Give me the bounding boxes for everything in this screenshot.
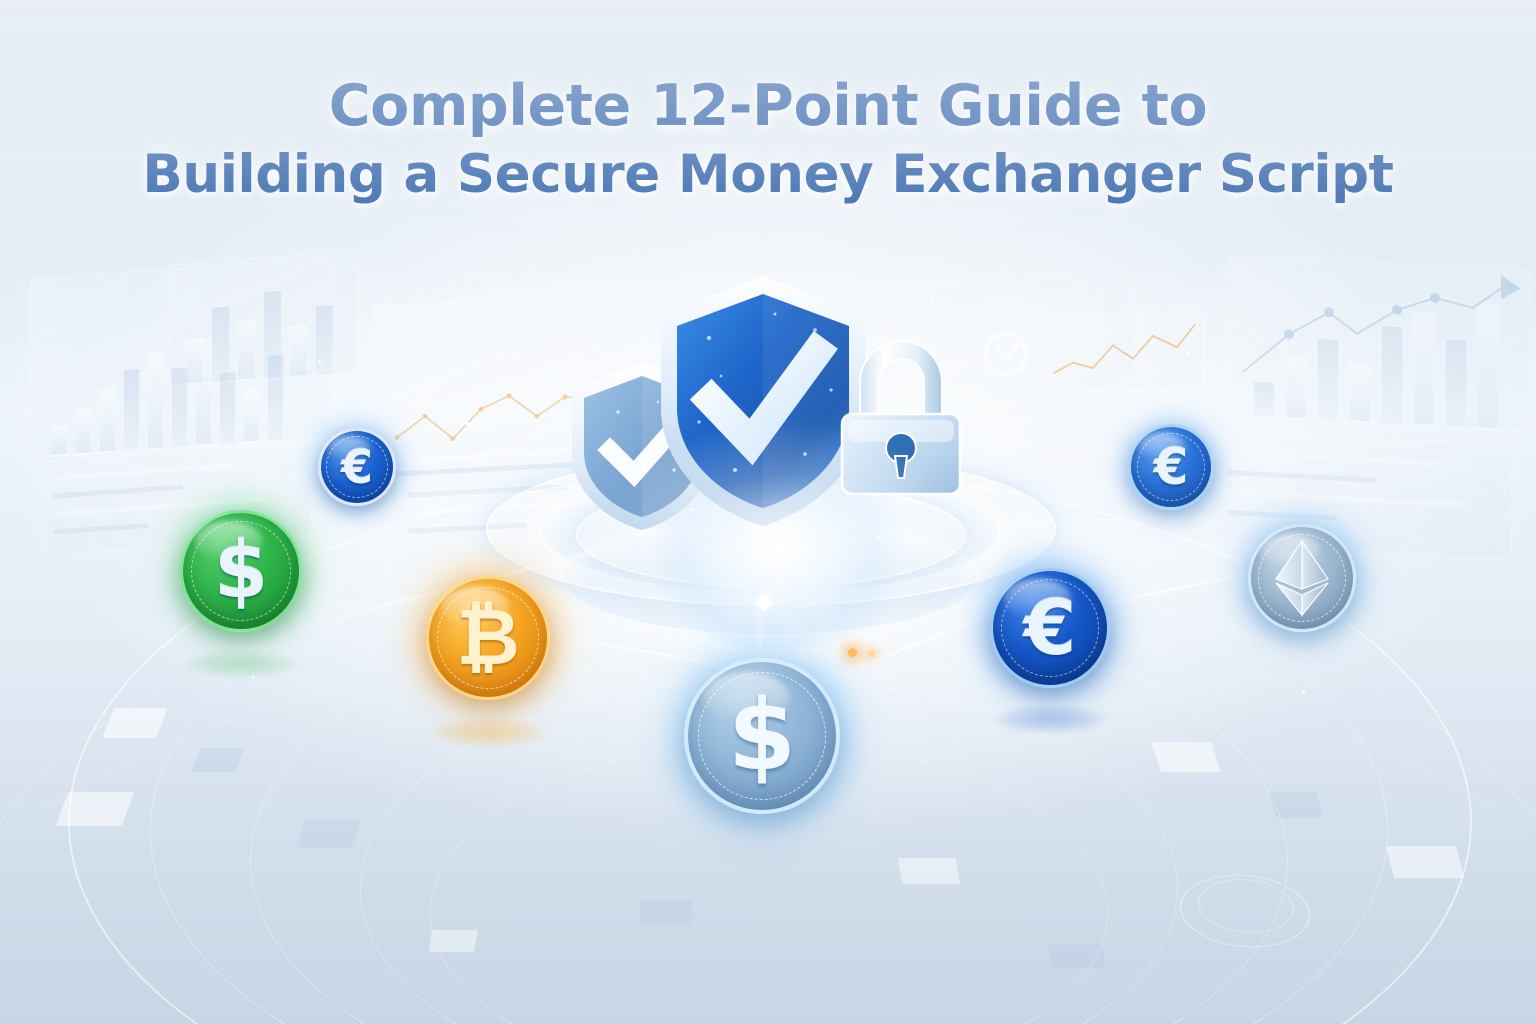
title-line-1: Complete 12-Point Guide to: [329, 73, 1207, 139]
page-title: Complete 12-Point Guide to Building a Se…: [0, 74, 1536, 205]
trend-arrow: [1229, 255, 1529, 431]
coin-symbol: ₿: [456, 599, 520, 677]
coin-euro-top-left[interactable]: €: [318, 428, 396, 506]
coin-euro-blue-large[interactable]: €: [990, 568, 1110, 688]
coin-symbol: €: [1154, 442, 1189, 492]
coin-euro-blue-large-reflection: [998, 706, 1102, 732]
title-line-2: Building a Secure Money Exchanger Script: [0, 145, 1536, 205]
sparkle: [878, 536, 881, 539]
coin-bitcoin-reflection: [434, 719, 542, 746]
sparkle: [466, 422, 469, 425]
coin-dollar-green-reflection: [188, 651, 294, 676]
coin-symbol: $: [728, 687, 796, 785]
sparkle-orange: [868, 650, 875, 657]
sparkle: [318, 360, 321, 363]
coin-dollar-center[interactable]: $: [684, 658, 840, 814]
bar-chart-panel-left-2: [168, 251, 358, 386]
sparkle-orange: [848, 648, 857, 657]
coin-symbol: €: [341, 444, 373, 490]
coin-bitcoin[interactable]: ₿: [426, 576, 550, 700]
bar-chart-panel-right: [1228, 254, 1530, 432]
coin-ethereum[interactable]: [1248, 524, 1356, 632]
coin-symbol: €: [1024, 590, 1077, 666]
sparkle: [252, 676, 255, 679]
ethereum-diamond-icon: [1272, 539, 1332, 617]
sparkle: [1302, 690, 1305, 693]
data-table-panel: [1210, 432, 1512, 560]
sparkle: [612, 330, 615, 333]
sparkle: [1060, 468, 1063, 471]
coin-dollar-green[interactable]: $: [180, 510, 302, 632]
hero-banner: Complete 12-Point Guide to Building a Se…: [0, 0, 1536, 1024]
sparkle: [930, 296, 933, 299]
sparkle: [1186, 352, 1189, 355]
padlock: [836, 332, 966, 500]
coin-euro-top-right[interactable]: €: [1128, 424, 1214, 510]
coin-symbol: $: [214, 532, 268, 610]
